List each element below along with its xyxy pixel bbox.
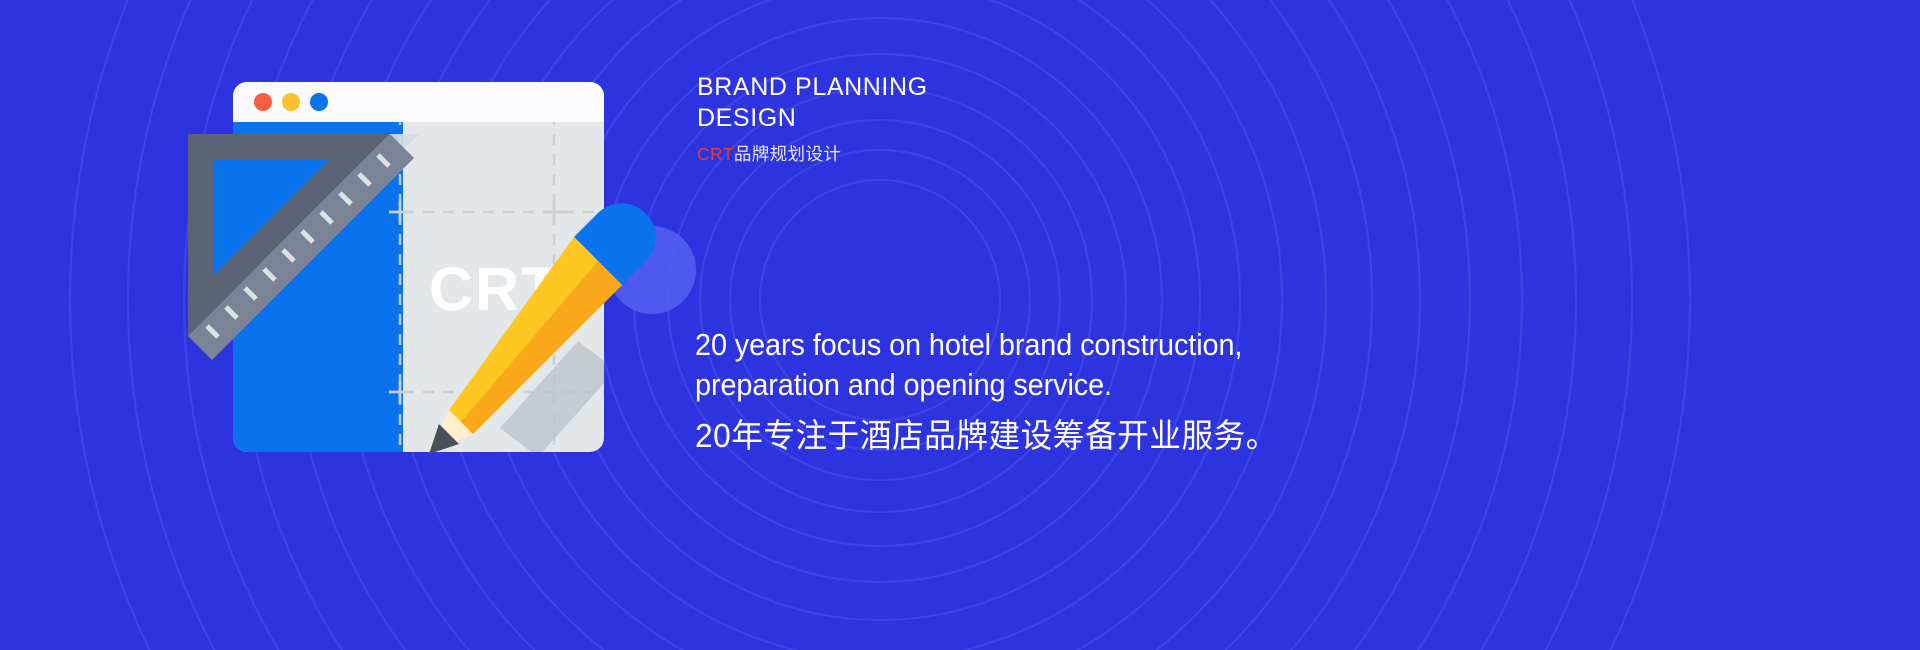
headline-block: BRAND PLANNING DESIGN CRT品牌规划设计 bbox=[697, 72, 1397, 166]
tagline-block: 20 years focus on hotel brand constructi… bbox=[695, 325, 1795, 456]
brand-design-illustration: CRT bbox=[186, 62, 706, 482]
subtitle: CRT品牌规划设计 bbox=[697, 141, 1397, 166]
tagline-chinese: 20年专注于酒店品牌建设筹备开业服务。 bbox=[695, 416, 1751, 456]
minimize-dot bbox=[282, 93, 300, 111]
subtitle-text: 品牌规划设计 bbox=[734, 144, 841, 164]
close-dot bbox=[254, 93, 272, 111]
subtitle-brand-prefix: CRT bbox=[697, 144, 734, 164]
maximize-dot bbox=[310, 93, 328, 111]
tagline-english: 20 years focus on hotel brand constructi… bbox=[695, 325, 1718, 404]
page-title: BRAND PLANNING DESIGN bbox=[697, 72, 1397, 134]
brand-banner: CRT bbox=[0, 0, 1920, 650]
